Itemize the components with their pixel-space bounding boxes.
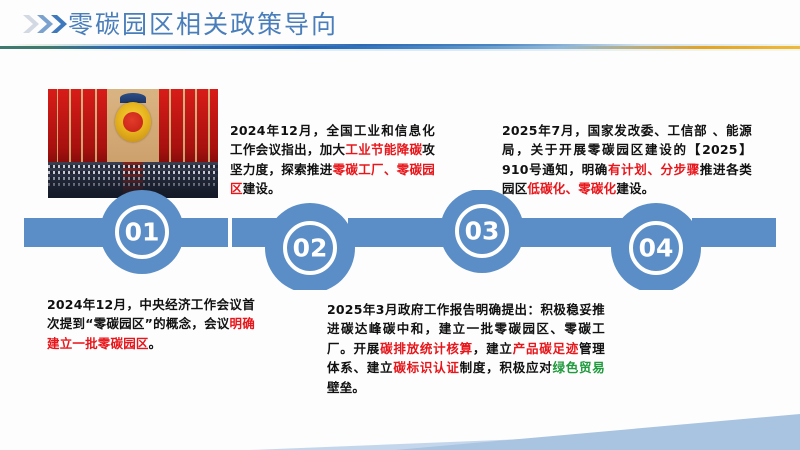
page-title: 零碳园区相关政策导向 — [68, 5, 338, 41]
body-text: 制度，积极应对 — [460, 360, 553, 375]
callout-text-03: 2025年7月，国家发改委、工信部 、能源局，关于开展零碳园区建设的【2025】… — [502, 121, 752, 199]
body-text: ，建立 — [473, 341, 513, 356]
highlighted-text: 碳排放统计核算 — [380, 341, 473, 356]
timeline-node-04-number: 04 — [639, 234, 674, 263]
wedge-dark — [395, 414, 800, 450]
photo-curtain — [171, 89, 183, 167]
timeline-node-02-number: 02 — [293, 234, 328, 263]
photo-curtain — [159, 89, 169, 167]
highlighted-text: 产品碳足迹 — [513, 341, 579, 356]
callout-text-04: 2025年3月政府工作报告明确提出：积极稳妥推进碳达峰碳中和，建立一批零碳园区、… — [327, 300, 605, 397]
timeline-graphic: 01 02 03 04 — [0, 190, 800, 290]
callout-text-02: 2024年12月，全国工业和信息化工作会议指出，加大工业节能降碳攻坚力度，探索推… — [230, 121, 435, 199]
timeline-node-03-number: 03 — [465, 217, 500, 246]
highlighted-text: 碳标识认证 — [393, 360, 459, 375]
photo-curtain — [71, 89, 81, 167]
highlighted-text: 有计划、分步骤 — [608, 162, 700, 177]
body-text: 建设。 — [243, 181, 281, 196]
photo-emblem-center — [123, 112, 143, 132]
slide-canvas: 零碳园区相关政策导向 — [0, 0, 800, 450]
highlighted-text: 绿色贸易 — [553, 360, 606, 375]
highlighted-text: 低碳化、零碳化 — [527, 181, 616, 196]
photo-curtain — [185, 89, 195, 167]
photo-curtain — [97, 89, 107, 167]
photo-curtain — [48, 89, 57, 167]
callout-text-01: 2024年12月，中央经济工作会议首次提到“零碳园区”的概念，会议明确建立一批零… — [47, 295, 255, 353]
body-text: 2024年12月，中央经济工作会议首次提到“零碳园区”的概念，会议 — [47, 297, 255, 331]
highlighted-text: 工业节能降碳 — [345, 142, 422, 157]
photo-emblem — [115, 102, 151, 142]
slide-header: 零碳园区相关政策导向 — [0, 0, 800, 52]
photo-audience-row — [48, 165, 218, 168]
body-text: 壁垒。 — [327, 380, 365, 395]
conference-hall-photo — [47, 88, 219, 199]
body-text: 。 — [149, 336, 162, 351]
photo-curtain — [197, 89, 208, 167]
timeline-node-01-number: 01 — [125, 218, 160, 247]
photo-curtain — [58, 89, 69, 167]
photo-curtain — [83, 89, 95, 167]
divider-line-bottom — [0, 49, 800, 51]
photo-curtain — [210, 89, 219, 167]
header-divider — [0, 44, 800, 51]
body-text: 建设。 — [616, 181, 654, 196]
wedge-light — [250, 392, 800, 450]
